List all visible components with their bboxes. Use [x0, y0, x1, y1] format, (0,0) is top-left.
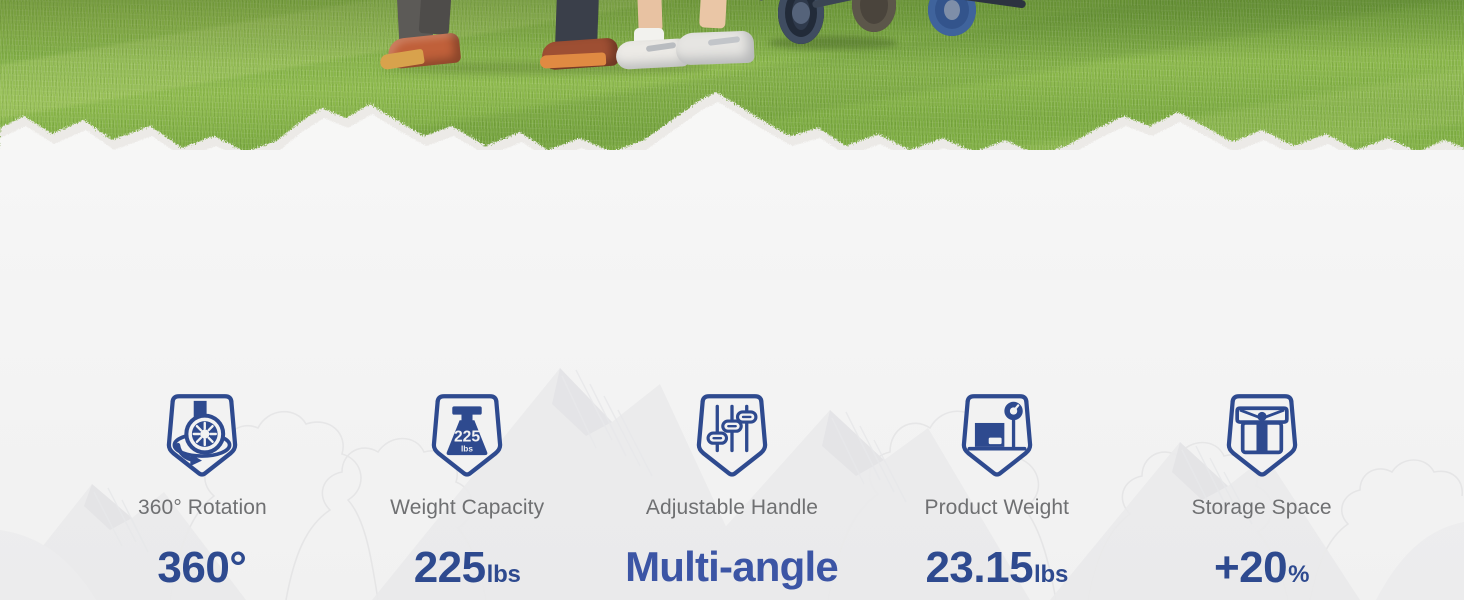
- feature-label: Storage Space: [1191, 496, 1331, 520]
- feature-value-number: 225: [414, 546, 486, 590]
- feature-value: Multi-angle: [625, 546, 839, 588]
- sliders-adjust-icon: [686, 388, 778, 480]
- infographic-banner: 360° Rotation 360° 225 lbs: [0, 0, 1464, 600]
- feature-value-number: Multi-angle: [625, 546, 838, 588]
- feature-value-number: +20: [1214, 546, 1287, 590]
- feature-value-unit: lbs: [487, 563, 521, 587]
- feature-value-number: 360°: [157, 546, 246, 590]
- box-on-scale-icon: [951, 388, 1043, 480]
- feature-label: Product Weight: [924, 496, 1069, 520]
- feature-item-360-rotation: 360° Rotation 360°: [70, 388, 335, 590]
- cart-wheel-three-hub: [944, 0, 960, 20]
- golfer-one-leg-back: [419, 0, 452, 35]
- icon-weight-unit: lbs: [461, 444, 473, 453]
- cart-wheel-one-hub: [792, 2, 810, 24]
- weight-kettlebell-icon: 225 lbs: [421, 388, 513, 480]
- feature-item-product-weight: Product Weight 23.15lbs: [864, 388, 1129, 590]
- feature-item-weight-capacity: 225 lbs Weight Capacity 225lbs: [335, 388, 600, 590]
- features-panel: 360° Rotation 360° 225 lbs: [0, 150, 1464, 600]
- feature-value-unit: %: [1288, 563, 1309, 587]
- feature-label: Weight Capacity: [390, 496, 544, 520]
- feature-item-storage-space: Storage Space +20%: [1129, 388, 1394, 590]
- icon-weight-number: 225: [454, 428, 480, 445]
- storage-bag-icon: [1216, 388, 1308, 480]
- feature-item-adjustable-handle: Adjustable Handle Multi-angle: [600, 388, 865, 588]
- golfer-three-sneaker-right: [675, 31, 754, 66]
- feature-value-unit: lbs: [1034, 563, 1068, 587]
- feature-value: +20%: [1214, 546, 1309, 590]
- feature-value: 225lbs: [414, 546, 521, 590]
- feature-value: 23.15lbs: [925, 546, 1068, 590]
- feature-label: 360° Rotation: [138, 496, 267, 520]
- wheel-rotation-icon: [156, 388, 248, 480]
- feature-value-number: 23.15: [925, 546, 1033, 590]
- feature-list: 360° Rotation 360° 225 lbs: [0, 388, 1464, 590]
- feature-label: Adjustable Handle: [646, 496, 818, 520]
- golfer-three-leg-right: [699, 0, 727, 29]
- feature-value: 360°: [157, 546, 247, 590]
